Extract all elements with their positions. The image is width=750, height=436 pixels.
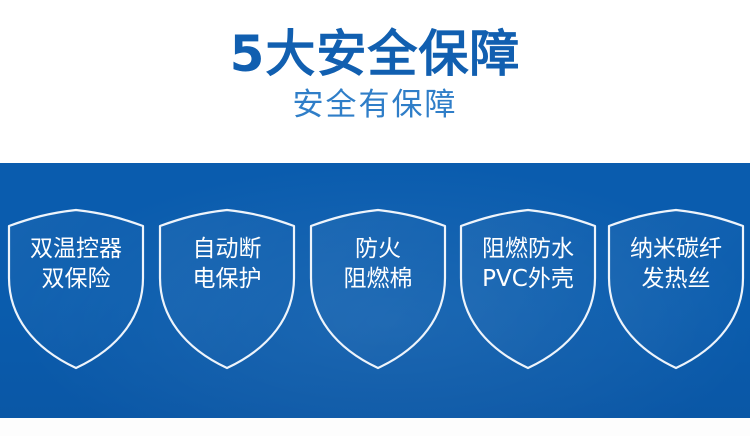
shield-item-fireproof-cotton: 防火 阻燃棉	[303, 208, 453, 373]
page-title: 5大安全保障	[0, 0, 750, 82]
safety-features-banner: 5大安全保障 安全有保障 双温控器 双保险	[0, 0, 750, 436]
features-blue-band: 双温控器 双保险 自动断 电保护 防火 阻燃棉 阻燃防水 PVC外壳	[0, 163, 750, 418]
shield-label: 防火 阻燃棉	[303, 234, 453, 294]
shield-label: 阻燃防水 PVC外壳	[453, 234, 603, 294]
shield-item-nano-carbon-fiber: 纳米碳纤 发热丝	[601, 208, 750, 373]
shield-label: 自动断 电保护	[152, 234, 302, 294]
bottom-white-strip	[0, 418, 750, 436]
shield-list: 双温控器 双保险 自动断 电保护 防火 阻燃棉 阻燃防水 PVC外壳	[0, 163, 750, 418]
shield-label: 纳米碳纤 发热丝	[601, 234, 750, 294]
page-subtitle: 安全有保障	[0, 82, 750, 124]
shield-item-auto-power-off: 自动断 电保护	[152, 208, 302, 373]
shield-label: 双温控器 双保险	[1, 234, 151, 294]
banner-header: 5大安全保障 安全有保障	[0, 0, 750, 163]
shield-item-dual-thermostat: 双温控器 双保险	[1, 208, 151, 373]
shield-item-flame-retardant-pvc: 阻燃防水 PVC外壳	[453, 208, 603, 373]
